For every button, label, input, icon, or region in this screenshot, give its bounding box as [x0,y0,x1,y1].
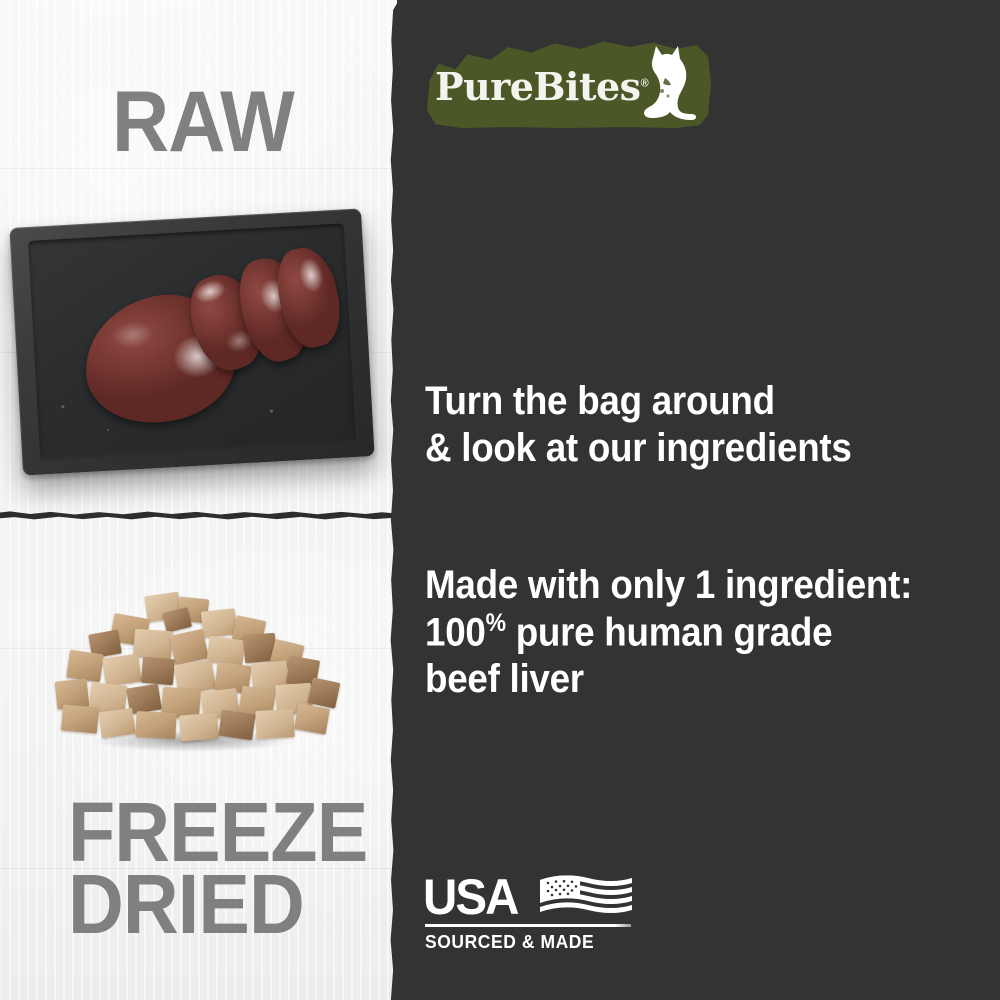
ingredient-line-2-rest: pure human grade [506,610,833,654]
ingredient-line-3: beef liver [425,657,584,701]
usa-badge-top-row: USA [423,868,643,920]
message-turn-the-bag: Turn the bag around & look at our ingred… [425,378,852,472]
freeze-dried-cubes-photo [38,576,348,776]
freeze-dried-label: FREEZE DRIED [68,796,367,940]
brand-name-text: PureBites [435,64,641,109]
percent-sign: % [486,609,506,637]
raw-liver-photo [4,196,389,496]
right-message-panel: PureBites® Turn the bag around & look at… [397,0,1000,1000]
brand-name: PureBites® [435,64,648,109]
cat-silhouette-icon [635,44,697,124]
usa-sourced-made-badge: USA [423,868,643,954]
torn-panel-edge [385,0,397,1000]
section-divider [0,509,397,520]
usa-badge-subtitle: SOURCED & MADE [425,932,594,953]
brand-logo[interactable]: PureBites® [421,36,711,128]
message-one-ingredient: Made with only 1 ingredient:100% pure hu… [425,562,912,703]
usa-badge-rule [425,924,631,927]
raw-label: RAW [112,86,294,160]
slate-tray [9,208,374,475]
usa-word: USA [423,868,518,926]
left-product-panel: RAW [0,0,397,1000]
ingredient-line-1: Made with only 1 ingredient: [425,563,912,607]
usa-flag-icon [538,872,634,916]
infographic-root: RAW [0,0,1000,1000]
ingredient-amount: 100 [425,610,486,654]
